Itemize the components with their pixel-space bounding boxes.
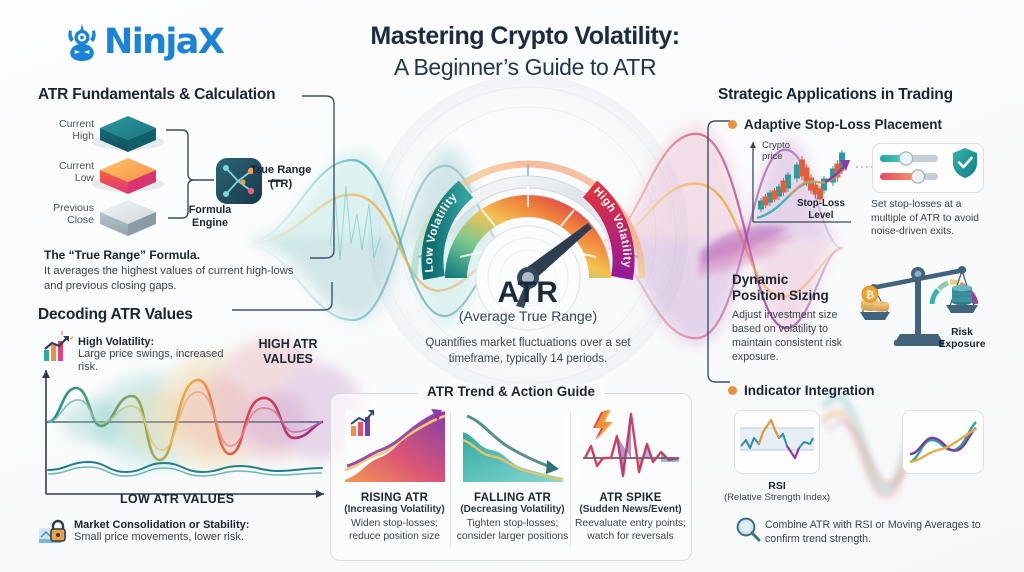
ninja-mask-icon [62,22,102,62]
bullet-dot-icon [728,120,737,129]
infographic-canvas: NinjaX Mastering Crypto Volatility: A Be… [0,0,1024,572]
label-previous-close: Previous Close [30,202,94,226]
brand-name: NinjaX [104,22,223,62]
cube-current-low [92,158,164,194]
bullet-indicator-integration: Indicator Integration [728,383,875,398]
chip-stack-icon [952,285,972,305]
brand-logo: NinjaX [62,22,223,62]
low-atr-values-label: LOW ATR VALUES [120,492,234,506]
chart-label-stop-loss-level: Stop-Loss Level [797,198,845,222]
market-consolidation-note: Market Consolidation or Stability: Small… [74,519,314,543]
trend-subtitle-rising: (Increasing Volatility) [337,504,452,515]
trend-action-falling: Tighten stop-losses; consider larger pos… [455,517,570,543]
rsi-abbr: RSI [720,480,834,492]
rsi-full: (Relative Strength Index) [720,492,834,503]
label-current-low: Current Low [36,160,94,184]
rising-chart-icon [343,406,447,486]
atr-acronym: ATR [404,276,652,310]
slider-controls[interactable] [878,148,946,188]
indicator-heading: Indicator Integration [744,383,875,398]
formula-title: The “True Range” Formula. [44,248,294,262]
atr-values-chart [36,366,336,506]
trend-subtitle-falling: (Decreasing Volatility) [455,504,570,515]
position-sizing-heading: Dynamic Position Sizing [732,272,829,304]
svg-text:₿: ₿ [866,289,874,301]
trend-title-spike: ATR SPIKE [573,492,688,504]
label-true-range: True Range (TR) [240,164,322,191]
rsi-chart [740,418,814,466]
falling-chart-icon [461,406,565,486]
lock-stability-icon [38,518,68,546]
bullet-dot-icon [728,386,737,395]
section-heading-fundamentals: ATR Fundamentals & Calculation [38,86,275,104]
page-title: Mastering Crypto Volatility: A Beginner’… [330,22,720,81]
bullet-adaptive-stop-loss: Adaptive Stop-Loss Placement [728,117,942,132]
rising-bar-chart-icon [42,334,72,362]
trend-panel-title: ATR Trend & Action Guide [330,383,692,401]
trend-action-spike: Reevaluate entry points; watch for rever… [573,517,688,543]
rsi-label: RSI (Relative Strength Index) [720,480,834,503]
high-atr-values-label: HIGH ATR VALUES [240,337,336,367]
coin-stack-icon: ₿ [861,286,889,312]
label-formula-engine: Formula Engine [178,204,242,230]
lightning-bolt-icon [579,406,683,486]
high-volatility-title: High Volatility: [78,336,228,348]
atr-description: Quantifies market fluctuations over a se… [398,336,658,368]
atr-expansion: (Average True Range) [404,308,652,324]
trend-column-rising: RISING ATR (Increasing Volatility) Widen… [337,406,452,543]
moving-average-chart [908,418,978,466]
trend-title-rising: RISING ATR [337,492,452,504]
panel-divider-2 [570,412,571,547]
trend-title-falling: FALLING ATR [455,492,570,504]
section-heading-decoding: Decoding ATR Values [38,306,193,324]
trend-subtitle-spike: (Sudden News/Event) [573,504,688,515]
consolidation-title: Market Consolidation or Stability: [74,519,314,531]
stop-loss-description: Set stop-losses at a multiple of ATR to … [871,198,991,239]
section-heading-strategic: Strategic Applications in Trading [718,86,953,104]
position-sizing-description: Adjust investment size based on volatili… [732,308,850,364]
title-line-1: Mastering Crypto Volatility: [330,22,720,51]
chart-axis-label-crypto-price: Crypto price [762,141,790,163]
shield-check-icon [952,147,978,179]
connector-decoding [232,280,340,316]
stop-loss-heading: Adaptive Stop-Loss Placement [744,117,942,132]
trend-column-falling: FALLING ATR (Decreasing Volatility) Tigh… [455,406,570,543]
cube-current-high [92,116,164,152]
label-current-high: Current High [36,118,94,142]
title-line-2: A Beginner’s Guide to ATR [330,54,720,81]
trend-column-spike: ATR SPIKE (Sudden News/Event) Reevaluate… [573,406,688,543]
consolidation-desc: Small price movements, lower risk. [74,531,314,543]
trend-action-rising: Widen stop-losses; reduce position size [337,517,452,543]
risk-exposure-label: Risk Exposure [930,327,994,352]
magnifier-icon [735,516,761,542]
indicator-description: Combine ATR with RSI or Moving Averages … [765,518,999,546]
